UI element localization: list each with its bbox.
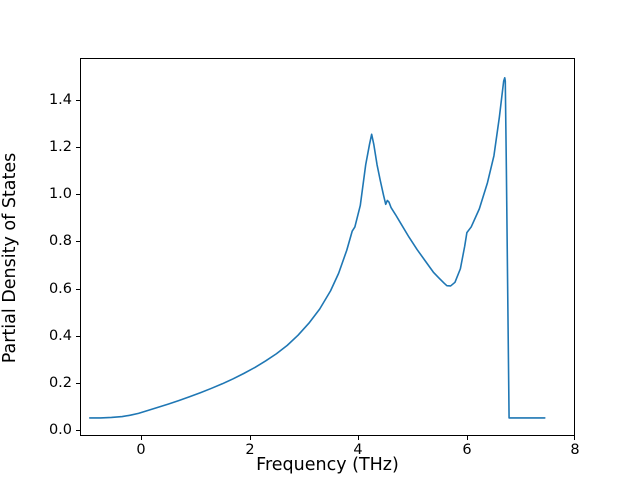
ytick-label-0.0: 0.0 [49,423,72,438]
ytick-mark-0.8 [76,241,80,242]
xtick-mark-2 [250,436,251,440]
ytick-mark-1.2 [76,147,80,148]
ytick-mark-1.4 [76,100,80,101]
xtick-mark-4 [358,436,359,440]
partial-dos-line [90,78,545,418]
x-axis-label: Frequency (THz) [80,455,575,475]
ytick-mark-0.6 [76,289,80,290]
plot-axes [80,58,575,436]
ytick-label-0.2: 0.2 [49,376,72,391]
ytick-mark-0.2 [76,383,80,384]
xtick-mark-8 [574,436,575,440]
ytick-label-0.4: 0.4 [49,329,72,344]
ytick-label-1.0: 1.0 [49,187,72,202]
y-axis-label: Partial Density of States [0,69,22,447]
xtick-mark-0 [141,436,142,440]
ytick-label-0.6: 0.6 [49,282,72,297]
ytick-mark-1.0 [76,194,80,195]
ytick-mark-0.0 [76,430,80,431]
xtick-mark-6 [467,436,468,440]
ytick-mark-0.4 [76,336,80,337]
ytick-label-0.8: 0.8 [49,234,72,249]
plot-area [81,59,574,435]
chart-figure: 0 2 4 6 8 0.0 0.2 0.4 0.6 0.8 1.0 1.2 1.… [0,0,640,480]
ytick-label-1.2: 1.2 [49,140,72,155]
ytick-label-1.4: 1.4 [49,93,72,108]
